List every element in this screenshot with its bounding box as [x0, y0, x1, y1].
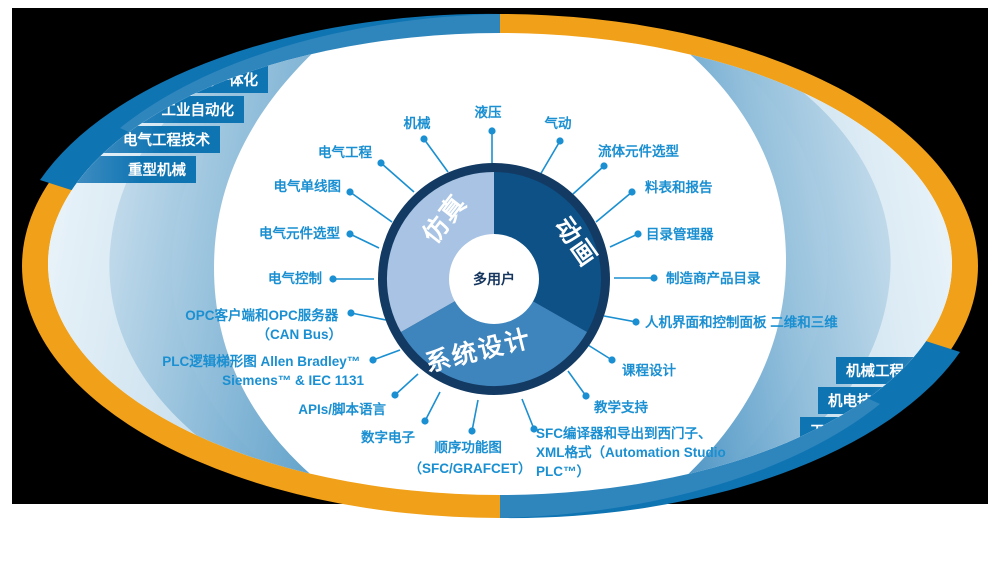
spoke-label-hmi-panels: 人机界面和控制面板 二维和三维: [645, 314, 838, 330]
spoke-label-bom-reports: 料表和报告: [645, 179, 713, 195]
spoke-label-electrical-comp: 电气元件选型: [259, 225, 340, 241]
diagram-canvas: 机电一体化 工业自动化 电气工程技术 重型机械 机械工程 机电技术 工业维护: [0, 0, 1000, 582]
spoke-label-mechanical: 机械: [404, 115, 431, 131]
spoke-label-fluid-components: 流体元件选型: [598, 143, 679, 159]
spoke-label-courseware: 课程设计: [622, 362, 676, 378]
banner-label: 重型机械: [128, 161, 186, 179]
spoke-label-single-line-diag: 电气单线图: [274, 178, 342, 194]
donut-core-label: 多用户: [473, 271, 515, 287]
spoke-label-teaching-support: 教学支持: [594, 399, 648, 415]
spoke-label-apis-script: APIs/脚本语言: [298, 401, 386, 417]
donut-chart: 多用户 仿真 动画 系统设计: [378, 163, 610, 395]
spoke-label-mfr-catalog: 制造商产品目录: [666, 270, 761, 286]
spoke-label-catalog-manager: 目录管理器: [646, 226, 714, 242]
ecosystem-diagram: 机电一体化 工业自动化 电气工程技术 重型机械 机械工程 机电技术 工业维护: [0, 0, 1000, 582]
spoke-label-electrical-ctrl: 电气控制: [268, 270, 322, 286]
banner-label: 电气工程技术: [123, 131, 210, 149]
spoke-label-pneumatics: 气动: [544, 115, 573, 131]
spoke-label-electrical-eng: 电气工程: [318, 144, 372, 160]
spoke-label-digital-electronics: 数字电子: [361, 429, 415, 445]
spoke-label-hydraulics: 液压: [475, 104, 502, 120]
